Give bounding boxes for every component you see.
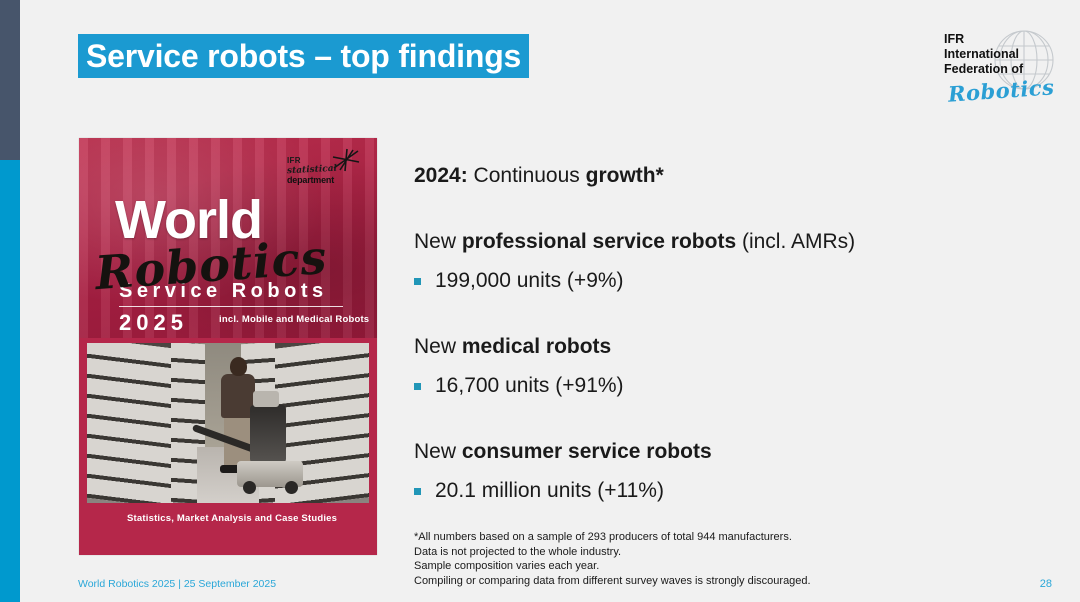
intro-emphasis: growth*: [586, 164, 664, 187]
footnote: *All numbers based on a sample of 293 pr…: [414, 530, 811, 588]
ifr-logo: IFR International Federation of Robotics: [932, 26, 1062, 106]
spacer: [414, 399, 1044, 439]
photo-worker-head: [230, 357, 247, 376]
list-item: 199,000 units (+9%): [414, 268, 1044, 294]
section-medical-robots: New medical robots 16,700 units (+91%): [414, 334, 1044, 399]
bullet-value: 20.1 million units (+11%): [435, 478, 664, 504]
intro-middle: Continuous: [468, 164, 586, 187]
book-cover-image: IFR statistical department World Robotic…: [79, 138, 377, 555]
intro-headline: 2024: Continuous growth*: [414, 163, 1044, 189]
footnote-line-3: Sample composition varies each year.: [414, 559, 811, 574]
list-item: 16,700 units (+91%): [414, 373, 1044, 399]
intro-year: 2024:: [414, 164, 468, 187]
section-heading: New professional service robots (incl. A…: [414, 229, 1044, 255]
heading-bold: medical robots: [462, 335, 611, 358]
footnote-line-4: Compiling or comparing data from differe…: [414, 574, 811, 589]
edge-accent-bar-bottom: [0, 160, 20, 602]
footer-source: World Robotics 2025 | 25 September 2025: [78, 578, 276, 590]
footnote-line-1: *All numbers based on a sample of 293 pr…: [414, 530, 811, 545]
bullet-value: 16,700 units (+91%): [435, 373, 624, 399]
bullet-value: 199,000 units (+9%): [435, 268, 624, 294]
cover-bottom-band: [87, 504, 369, 549]
heading-bold: professional service robots: [462, 230, 736, 253]
photo-shelving-left: [87, 343, 173, 503]
ifr-wordmark: IFR International Federation of: [944, 32, 1023, 77]
cover-logo-department: department: [287, 175, 334, 185]
section-consumer-service-robots: New consumer service robots 20.1 million…: [414, 439, 1044, 504]
cover-year: 2025: [119, 310, 188, 336]
section-professional-service-robots: New professional service robots (incl. A…: [414, 229, 1044, 294]
cover-tagline: Statistics, Market Analysis and Case Stu…: [127, 513, 337, 524]
cover-warehouse-photo: [87, 343, 369, 503]
square-bullet-icon: [414, 278, 421, 285]
heading-suffix: (incl. AMRs): [736, 230, 855, 253]
ifr-logo-script-robotics: Robotics: [947, 74, 1055, 106]
photo-robot-body: [250, 405, 286, 463]
heading-bold: consumer service robots: [462, 440, 712, 463]
square-bullet-icon: [414, 383, 421, 390]
heading-prefix: New: [414, 335, 462, 358]
spacer: [414, 294, 1044, 334]
footnote-line-2: Data is not projected to the whole indus…: [414, 545, 811, 560]
cover-incl-note: incl. Mobile and Medical Robots: [219, 314, 369, 325]
ifr-logo-line3: Federation of: [944, 62, 1023, 77]
photo-robot-wheel-right: [285, 481, 298, 494]
ifr-logo-line1: IFR: [944, 32, 1023, 47]
ifr-logo-line2: International: [944, 47, 1023, 62]
page-title: Service robots – top findings: [78, 34, 529, 78]
cover-ifr-statistical-department-logo: IFR statistical department: [287, 148, 365, 186]
square-bullet-icon: [414, 488, 421, 495]
heading-prefix: New: [414, 440, 462, 463]
cover-logo-ifr: IFR: [287, 156, 301, 165]
section-heading: New medical robots: [414, 334, 1044, 360]
main-content: 2024: Continuous growth* New professiona…: [414, 163, 1044, 504]
page-number: 28: [1040, 578, 1052, 590]
heading-prefix: New: [414, 230, 462, 253]
edge-accent-bar-top: [0, 0, 20, 160]
photo-robot-wheel-left: [243, 481, 256, 494]
cover-divider: [119, 306, 343, 307]
list-item: 20.1 million units (+11%): [414, 478, 1044, 504]
photo-robot-head: [253, 391, 279, 407]
section-heading: New consumer service robots: [414, 439, 1044, 465]
spacer: [414, 189, 1044, 229]
